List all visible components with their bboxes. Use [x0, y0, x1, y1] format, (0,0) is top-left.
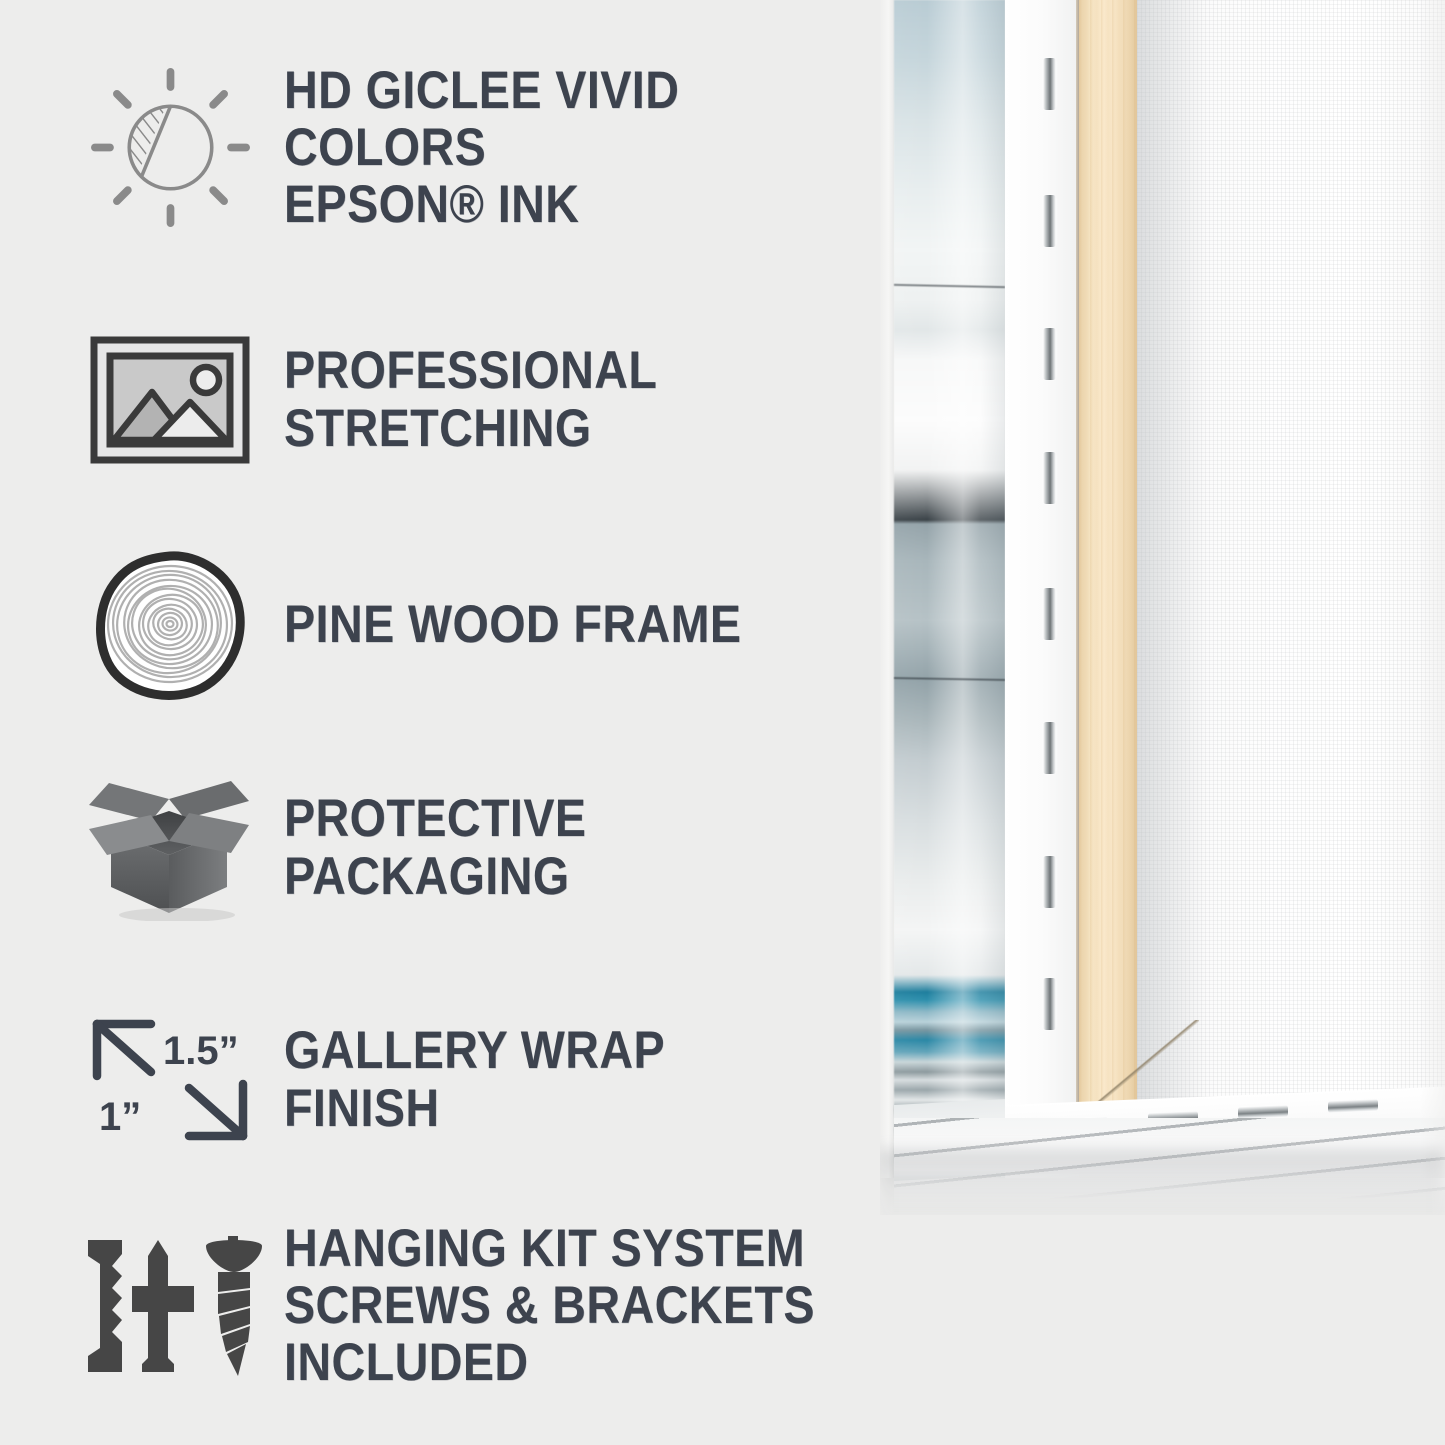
icon-cell	[70, 537, 270, 712]
product-drop-shadow	[880, 1150, 1445, 1215]
staple	[1043, 856, 1056, 908]
feature-row-protective-packaging: PROTECTIVE PACKAGING	[70, 760, 900, 935]
icon-cell: 1.5” 1”	[70, 992, 270, 1167]
staple	[1043, 328, 1056, 380]
feature-label-hanging-kit: HANGING KIT SYSTEM SCREWS & BRACKETS INC…	[284, 1220, 826, 1392]
label-cell: PROTECTIVE PACKAGING	[270, 790, 900, 904]
depth-top-label: 1.5”	[163, 1029, 239, 1073]
canvas-edge-highlight	[894, 0, 1005, 1178]
dimension-arrows-icon: 1.5” 1”	[85, 1014, 255, 1146]
staple	[1043, 978, 1056, 1030]
feature-list: HD GICLEE VIVID COLORS EPSON® INK PROFES…	[0, 0, 900, 1445]
staple	[1043, 195, 1056, 247]
photo-left-margin	[880, 0, 894, 1178]
wood-rings-icon	[90, 550, 250, 700]
label-cell: HANGING KIT SYSTEM SCREWS & BRACKETS INC…	[270, 1220, 900, 1392]
sun-hatched-icon	[88, 65, 253, 230]
icon-cell	[70, 312, 270, 487]
gallery-wrap-white-return	[1005, 0, 1079, 1178]
open-box-icon	[81, 775, 259, 921]
canvas-backing-shadow	[1137, 0, 1207, 1105]
photo-right-fade	[1420, 0, 1445, 1178]
icon-cell	[70, 760, 270, 935]
staple	[1043, 588, 1056, 640]
staple	[1043, 58, 1056, 110]
feature-label-protective-packaging: PROTECTIVE PACKAGING	[284, 790, 826, 904]
canvas-back-corner-photo	[880, 0, 1445, 1215]
feature-row-pine-wood-frame: PINE WOOD FRAME	[70, 537, 900, 712]
feature-label-pine-wood-frame: PINE WOOD FRAME	[284, 596, 741, 653]
hanging-hardware-icon	[78, 1230, 263, 1382]
framed-picture-icon	[90, 336, 250, 464]
feature-row-professional-stretching: PROFESSIONAL STRETCHING	[70, 312, 900, 487]
staple	[1043, 722, 1056, 774]
icon-cell	[70, 60, 270, 235]
icon-cell	[70, 1218, 270, 1393]
feature-row-gallery-wrap-finish: 1.5” 1” GALLERY WRAP FINISH	[70, 992, 900, 1167]
label-cell: PINE WOOD FRAME	[270, 596, 804, 653]
infographic-page: HD GICLEE VIVID COLORS EPSON® INK PROFES…	[0, 0, 1445, 1445]
pine-stretcher-bar	[1079, 0, 1137, 1105]
label-cell: GALLERY WRAP FINISH	[270, 1022, 900, 1136]
feature-label-hd-giclee: HD GICLEE VIVID COLORS EPSON® INK	[284, 62, 826, 234]
feature-row-hanging-kit: HANGING KIT SYSTEM SCREWS & BRACKETS INC…	[70, 1218, 900, 1393]
label-cell: PROFESSIONAL STRETCHING	[270, 342, 900, 456]
feature-label-gallery-wrap-finish: GALLERY WRAP FINISH	[284, 1022, 826, 1136]
feature-label-professional-stretching: PROFESSIONAL STRETCHING	[284, 342, 826, 456]
label-cell: HD GICLEE VIVID COLORS EPSON® INK	[270, 62, 900, 234]
staple	[1043, 452, 1056, 504]
staple	[1238, 1105, 1288, 1119]
feature-row-hd-giclee: HD GICLEE VIVID COLORS EPSON® INK	[70, 60, 900, 235]
staple	[1328, 1099, 1378, 1113]
depth-bottom-label: 1”	[99, 1095, 141, 1139]
